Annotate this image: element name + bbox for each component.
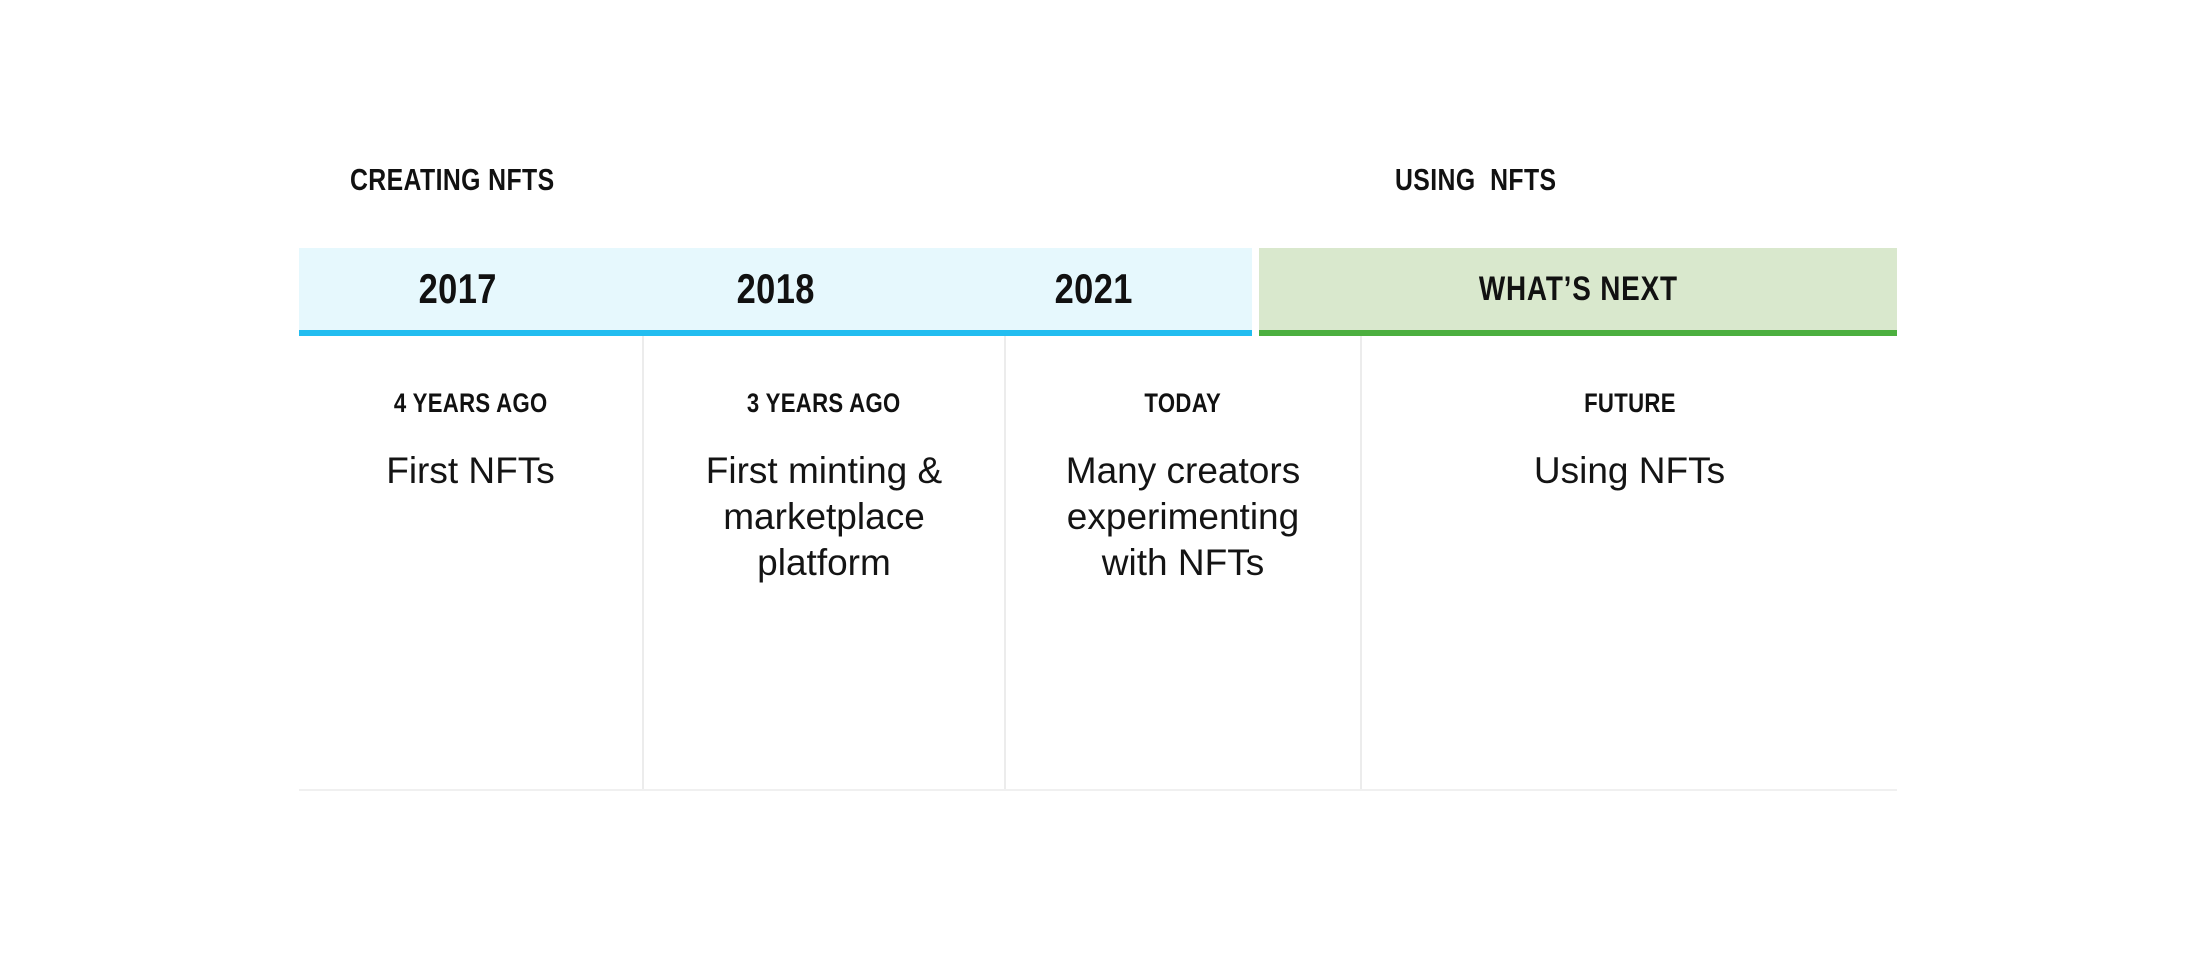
section-caption-using-nfts: USING NFTS bbox=[1395, 160, 1556, 200]
band-gap bbox=[1252, 248, 1259, 336]
column-text-2021: Many creators experimenting with NFTs bbox=[1038, 448, 1328, 586]
band-cell-whats-next[interactable]: WHAT’S NEXT bbox=[1259, 248, 1897, 330]
column-text-2018: First minting & marketplace platform bbox=[679, 448, 969, 586]
column-text-2017: First NFTs bbox=[386, 448, 555, 494]
timeline-column-whats-next: FUTURE Using NFTs bbox=[1360, 336, 1897, 790]
timeline-body-row: 4 YEARS AGO First NFTs 3 YEARS AGO First… bbox=[299, 336, 1897, 790]
timeline-header-band-row: 2017 2018 2021 WHAT’S NEXT bbox=[299, 248, 1897, 336]
era-label-2021: TODAY bbox=[1145, 388, 1222, 418]
timeline-bottom-rule bbox=[299, 789, 1897, 791]
timeline-column-2018: 3 YEARS AGO First minting & marketplace … bbox=[642, 336, 1004, 790]
band-label-whats-next: WHAT’S NEXT bbox=[1478, 266, 1677, 312]
band-cell-2021[interactable]: 2021 bbox=[935, 248, 1252, 330]
column-text-whats-next: Using NFTs bbox=[1534, 448, 1725, 494]
creating-nfts-band: 2017 2018 2021 bbox=[299, 248, 1252, 336]
timeline-column-2021: TODAY Many creators experimenting with N… bbox=[1004, 336, 1360, 790]
nft-timeline: CREATING NFTS USING NFTS 2017 2018 2021 … bbox=[299, 0, 1897, 959]
section-caption-creating-nfts: CREATING NFTS bbox=[350, 160, 555, 200]
band-label-2021: 2021 bbox=[1054, 266, 1132, 312]
band-cell-2017[interactable]: 2017 bbox=[299, 248, 617, 330]
band-label-2017: 2017 bbox=[419, 266, 497, 312]
band-label-2018: 2018 bbox=[737, 266, 815, 312]
band-cell-2018[interactable]: 2018 bbox=[617, 248, 935, 330]
era-label-2018: 3 YEARS AGO bbox=[747, 388, 901, 418]
era-label-future: FUTURE bbox=[1584, 388, 1676, 418]
timeline-column-2017: 4 YEARS AGO First NFTs bbox=[299, 336, 642, 790]
era-label-2017: 4 YEARS AGO bbox=[394, 388, 548, 418]
section-caption-row: CREATING NFTS USING NFTS bbox=[299, 160, 1897, 222]
using-nfts-band: WHAT’S NEXT bbox=[1259, 248, 1897, 336]
